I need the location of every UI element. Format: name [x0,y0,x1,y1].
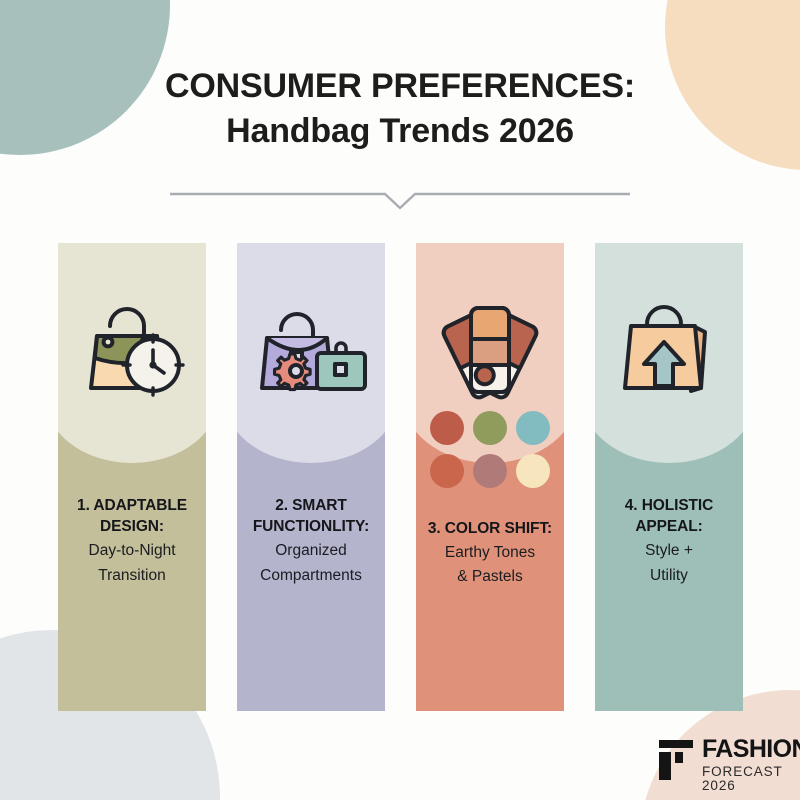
swatch-dot-2 [473,411,507,445]
swatch-dot-3 [516,411,550,445]
column-2-subtitle-2: Compartments [241,565,381,586]
column-4-heading: 4. HOLISTIC APPEAL: [599,495,739,537]
f-monogram-icon [659,740,693,785]
logo-wordmark: FASHION FORECAST 2026 [702,737,800,792]
logo-main-text: FASHION [702,737,800,762]
color-swatch-fan-icon [416,298,564,400]
column-3-subtitle-2: & Pastels [420,566,560,587]
infographic-canvas: CONSUMER PREFERENCES: Handbag Trends 202… [0,0,800,800]
handbag-clock-icon [58,298,206,398]
column-4-subtitle-2: Utility [599,565,739,586]
column-2-subtitle-1: Organized [241,540,381,561]
column-color-shift[interactable]: 3. COLOR SHIFT: Earthy Tones & Pastels [416,243,564,711]
column-smart-functionality[interactable]: 2. SMART FUNCTIONLITY: Organized Compart… [237,243,385,711]
column-2-text: 2. SMART FUNCTIONLITY: Organized Compart… [241,495,381,586]
logo-sub-text: FORECAST 2026 [702,765,800,792]
column-2-heading: 2. SMART FUNCTIONLITY: [241,495,381,537]
header: CONSUMER PREFERENCES: Handbag Trends 202… [0,0,800,154]
handbag-briefcase-gear-icon [237,298,385,398]
page-title: CONSUMER PREFERENCES: Handbag Trends 202… [0,0,800,154]
divider-line-with-notch [170,186,630,212]
title-line-2: Handbag Trends 2026 [0,109,800,154]
column-adaptable-design[interactable]: 1. ADAPTABLE DESIGN: Day-to-Night Transi… [58,243,206,711]
column-1-heading: 1. ADAPTABLE DESIGN: [62,495,202,537]
column-4-text: 4. HOLISTIC APPEAL: Style + Utility [599,495,739,586]
column-1-subtitle-1: Day-to-Night [62,540,202,561]
title-line-1: CONSUMER PREFERENCES: [165,67,635,105]
column-3-subtitle-1: Earthy Tones [420,542,560,563]
shopping-bag-uparrow-icon [595,298,743,398]
brand-logo: FASHION FORECAST 2026 [659,737,800,792]
columns-container: 1. ADAPTABLE DESIGN: Day-to-Night Transi… [0,243,800,711]
swatch-dot-5 [473,454,507,488]
column-1-subtitle-2: Transition [62,565,202,586]
column-3-heading: 3. COLOR SHIFT: [420,518,560,539]
color-swatch-dots [416,411,564,488]
swatch-dot-6 [516,454,550,488]
swatch-dot-1 [430,411,464,445]
swatch-dot-4 [430,454,464,488]
section-divider [170,186,630,212]
column-holistic-appeal[interactable]: 4. HOLISTIC APPEAL: Style + Utility [595,243,743,711]
column-3-text: 3. COLOR SHIFT: Earthy Tones & Pastels [420,518,560,588]
column-4-subtitle-1: Style + [599,540,739,561]
column-1-text: 1. ADAPTABLE DESIGN: Day-to-Night Transi… [62,495,202,586]
